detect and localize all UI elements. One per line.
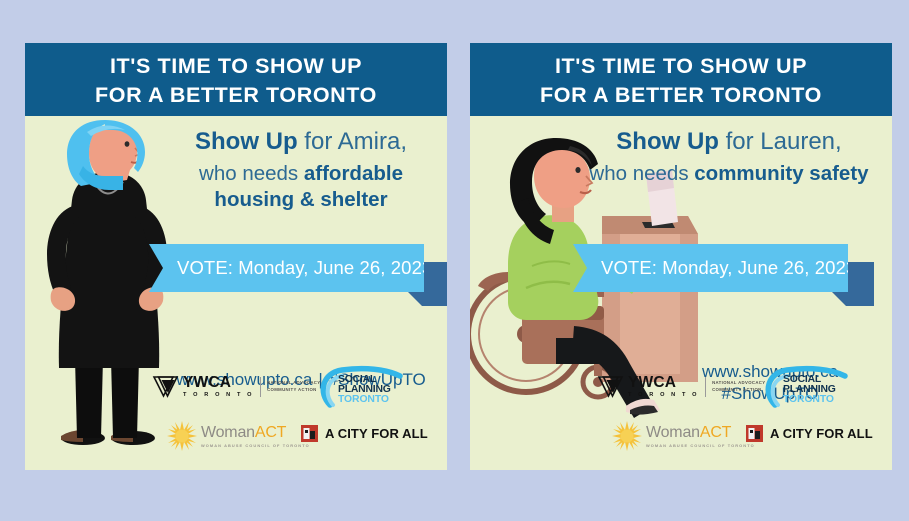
womanact-part2: ACT <box>700 424 731 441</box>
logo-a-city-for-all: A CITY FOR ALL <box>301 425 428 442</box>
headline-bold-lead: Show Up <box>195 128 298 155</box>
womanact-subtitle: WOMAN ABUSE COUNCIL OF TORONTO <box>646 444 755 448</box>
ywca-wordmark: YWCA T O R O N T O <box>183 375 254 399</box>
womanact-part1: Woman <box>646 424 700 441</box>
poster-stage: IT'S TIME TO SHOW UP FOR A BETTER TORONT… <box>0 0 909 521</box>
city-for-all-name: A CITY FOR ALL <box>770 426 873 441</box>
headline-line-1: Show Up for Lauren, <box>570 127 888 158</box>
header-band-lauren: IT'S TIME TO SHOW UP FOR A BETTER TORONT… <box>470 43 892 116</box>
ywca-name: YWCA <box>183 374 231 391</box>
womanact-subtitle: WOMAN ABUSE COUNCIL OF TORONTO <box>201 444 310 448</box>
headline-line-3: housing & shelter <box>161 187 441 213</box>
logo-a-city-for-all: A CITY FOR ALL <box>746 425 873 442</box>
ribbon-text: VOTE: Monday, June 26, 2023 <box>573 257 856 279</box>
ywca-wordmark: YWCA T O R O N T O <box>628 375 699 399</box>
ywca-tagline-line2: COMMUNITY ACTION <box>267 387 320 394</box>
city-building-icon <box>301 425 318 442</box>
womanact-part1: Woman <box>201 424 255 441</box>
ribbon-banner: VOTE: Monday, June 26, 2023 <box>149 244 424 292</box>
logo-block-lauren: YWCA T O R O N T O NATIONAL ADVOCACY COM… <box>470 375 892 470</box>
headline-lead-rest: for Amira, <box>298 128 407 155</box>
vote-ribbon-amira: VOTE: Monday, June 26, 2023 <box>25 244 447 306</box>
vote-ribbon-lauren: VOTE: Monday, June 26, 2023 <box>470 244 892 306</box>
headline-amira: Show Up for Amira, who needs affordable … <box>161 127 441 213</box>
band-line-2: FOR A BETTER TORONTO <box>540 81 822 109</box>
ywca-city: T O R O N T O <box>183 393 254 399</box>
headline-line2-prefix: who needs <box>589 162 694 185</box>
ywca-divider <box>705 377 706 397</box>
headline-line-2: who needs affordable <box>161 161 441 187</box>
band-line-1: IT'S TIME TO SHOW UP <box>555 52 807 80</box>
poster-card-amira: IT'S TIME TO SHOW UP FOR A BETTER TORONT… <box>25 43 447 470</box>
ywca-name: YWCA <box>628 374 676 391</box>
spt-inner: SOCIAL PLANNING TORONTO <box>761 367 853 407</box>
header-band-amira: IT'S TIME TO SHOW UP FOR A BETTER TORONT… <box>25 43 447 116</box>
headline-line2-bold: affordable <box>304 162 403 185</box>
womanact-wordmark: WomanACT WOMAN ABUSE COUNCIL OF TORONTO <box>201 425 310 448</box>
spt-line3: TORONTO <box>338 395 391 405</box>
logo-block-amira: YWCA T O R O N T O NATIONAL ADVOCACY COM… <box>25 375 447 470</box>
ywca-divider <box>260 377 261 397</box>
womanact-name: WomanACT <box>201 424 286 441</box>
ywca-tagline: NATIONAL ADVOCACY COMMUNITY ACTION <box>712 380 765 393</box>
logo-ywca: YWCA T O R O N T O NATIONAL ADVOCACY COM… <box>598 375 765 399</box>
ywca-triangle-icon <box>598 375 623 399</box>
spt-line3: TORONTO <box>783 395 836 405</box>
city-building-icon <box>746 425 763 442</box>
ywca-tagline-line2: COMMUNITY ACTION <box>712 387 765 394</box>
ywca-tagline-line1: NATIONAL ADVOCACY <box>712 380 765 387</box>
spt-inner: SOCIAL PLANNING TORONTO <box>316 367 408 407</box>
city-for-all-name: A CITY FOR ALL <box>325 426 428 441</box>
band-line-1: IT'S TIME TO SHOW UP <box>110 52 362 80</box>
band-line-2: FOR A BETTER TORONTO <box>95 81 377 109</box>
logo-womanact: WomanACT WOMAN ABUSE COUNCIL OF TORONTO <box>612 421 755 451</box>
womanact-name: WomanACT <box>646 424 731 441</box>
spt-wordmark: SOCIAL PLANNING TORONTO <box>338 375 391 406</box>
ywca-city: T O R O N T O <box>628 393 699 399</box>
logo-womanact: WomanACT WOMAN ABUSE COUNCIL OF TORONTO <box>167 421 310 451</box>
ywca-triangle-icon <box>153 375 178 399</box>
womanact-part2: ACT <box>255 424 286 441</box>
sunburst-icon <box>167 421 197 451</box>
headline-line-2: who needs community safety <box>570 161 888 187</box>
ywca-tagline-line1: NATIONAL ADVOCACY <box>267 380 320 387</box>
headline-line2-bold: community safety <box>694 162 868 185</box>
ywca-tagline: NATIONAL ADVOCACY COMMUNITY ACTION <box>267 380 320 393</box>
sunburst-icon <box>612 421 642 451</box>
ribbon-text: VOTE: Monday, June 26, 2023 <box>149 257 432 279</box>
ribbon-banner: VOTE: Monday, June 26, 2023 <box>573 244 848 292</box>
poster-card-lauren: IT'S TIME TO SHOW UP FOR A BETTER TORONT… <box>470 43 892 470</box>
logo-social-planning-toronto: SOCIAL PLANNING TORONTO <box>316 367 408 407</box>
headline-line2-prefix: who needs <box>199 162 304 185</box>
spt-wordmark: SOCIAL PLANNING TORONTO <box>783 375 836 406</box>
headline-bold-lead: Show Up <box>616 128 719 155</box>
headline-lead-rest: for Lauren, <box>719 128 842 155</box>
logo-ywca: YWCA T O R O N T O NATIONAL ADVOCACY COM… <box>153 375 320 399</box>
headline-lauren: Show Up for Lauren, who needs community … <box>570 127 888 187</box>
logo-social-planning-toronto: SOCIAL PLANNING TORONTO <box>761 367 853 407</box>
headline-line-1: Show Up for Amira, <box>161 127 441 158</box>
womanact-wordmark: WomanACT WOMAN ABUSE COUNCIL OF TORONTO <box>646 425 755 448</box>
